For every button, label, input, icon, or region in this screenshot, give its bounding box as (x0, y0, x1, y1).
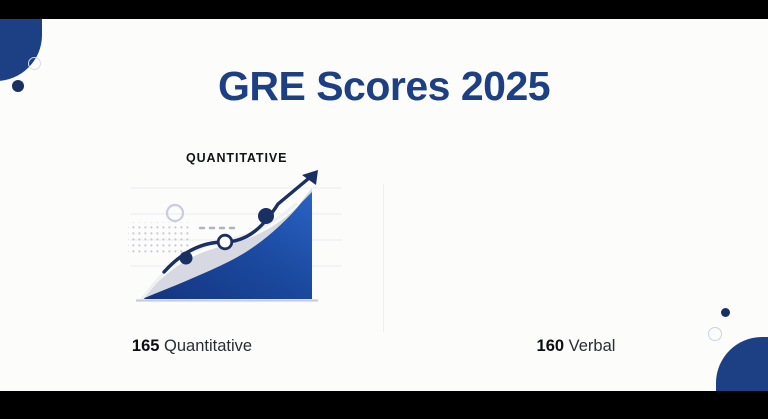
score-label-quantitative: Quantitative (164, 337, 252, 355)
caption-verbal: 160 Verbal (384, 337, 768, 367)
panel-verbal: VERBAL (384, 144, 768, 359)
score-label-verbal: Verbal (569, 337, 616, 355)
page-title: GRE Scores 2025 (0, 63, 768, 110)
letterbox-bar-top (0, 0, 768, 19)
letterbox-bar-bottom (0, 391, 768, 419)
captions-row: 165 Quantitative 160 Verbal (0, 337, 768, 367)
panel-divider (383, 184, 384, 332)
chart-marker-filled-quantitative-3 (258, 208, 274, 224)
score-value-verbal: 160 (537, 337, 565, 355)
panel-quantitative: QUANTITATIVE (0, 144, 384, 359)
slide-root: GRE Scores 2025 QUANTITATIVE (0, 0, 768, 419)
chart-quantitative (126, 166, 356, 326)
chart-title-quantitative: QUANTITATIVE (186, 151, 287, 165)
charts-row: QUANTITATIVE (0, 144, 768, 359)
score-value-quantitative: 165 (132, 337, 160, 355)
decor-dot-grid-quantitative (128, 222, 190, 256)
decor-ring-quantitative-icon (167, 205, 183, 221)
caption-quantitative: 165 Quantitative (0, 337, 384, 367)
slide-canvas: GRE Scores 2025 QUANTITATIVE (0, 19, 768, 391)
chart-marker-outline-quantitative-2 (218, 235, 232, 249)
chart-marker-filled-quantitative-1 (180, 252, 193, 265)
